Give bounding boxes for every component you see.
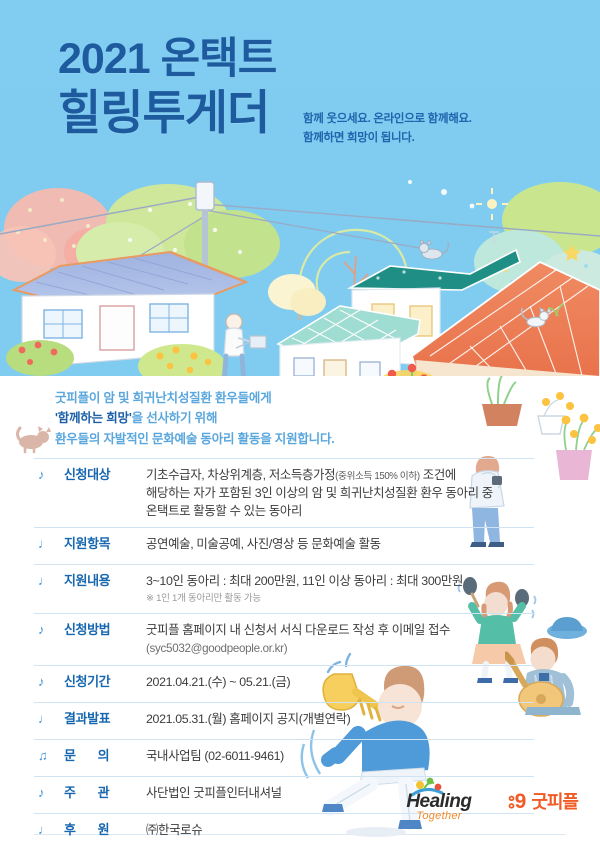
healing-together-logo: Healing Together [404,775,490,827]
info-value-support-items: 공연예술, 미술공예, 사진/영상 등 문화예술 활동 [142,535,534,553]
value-main: 기초수급자, 차상위계층, 저소득층가정 [146,468,335,482]
value-line-2: 해당하는 자가 포함된 3인 이상의 암 및 희귀난치성질환 환우 동아리 중 [146,484,534,502]
lead-highlight: '함께하는 희망' [55,411,132,425]
together-wordmark: Together [416,810,461,822]
music-note-icon: ♩ [34,710,64,728]
cat-illustration-left [14,424,54,454]
blue-hat [547,617,587,639]
value-memo: ※ 1인 1개 동아리만 활동 가능 [146,592,534,606]
value-small: (중위소득 150% 이하) [335,471,420,482]
flower-bush-left [6,340,74,376]
info-row-how-to-apply: ♪ 신청방법 굿피플 홈페이지 내 신청서 서식 다운로드 작성 후 이메일 접… [34,614,534,665]
info-value-how-to-apply: 굿피플 홈페이지 내 신청서 서식 다운로드 작성 후 이메일 접수 (syc5… [142,621,534,657]
info-label-support-details: 지원내용 [64,572,142,590]
music-note-icon: ♩ [34,535,64,553]
village-illustration [0,170,600,400]
lead-line-2-rest: 을 선사하기 위해 [132,411,218,425]
lead-line-2: '함께하는 희망'을 선사하기 위해 [55,408,335,428]
poster-subtitle: 함께 웃으세요. 온라인으로 함께해요. 함께하면 희망이 됩니다. [303,110,472,148]
info-row-support-details: ♩ 지원내용 3~10인 동아리 : 최대 200만원, 11인 이상 동아리 … [34,565,534,614]
music-note-icon: ♩ [34,821,64,839]
music-note-double-icon: ♪ [34,673,64,691]
goodpeople-mark-icon: ⦂9 [508,791,526,812]
info-value-application-target: 기초수급자, 차상위계층, 저소득층가정(중위소득 150% 이하) 조건에 해… [142,466,534,520]
value-tail: 조건에 [420,468,456,482]
lead-paragraph: 굿피플이 암 및 희귀난치성질환 환우들에게 '함께하는 희망'을 선사하기 위… [55,388,335,449]
lead-line-3: 환우들의 자발적인 문화예술 동아리 활동을 지원합니다. [55,429,335,449]
value-main: 굿피플 홈페이지 내 신청서 서식 다운로드 작성 후 이메일 접수 [146,623,450,637]
info-value-inquiry: 국내사업팀 (02-6011-9461) [142,747,534,765]
info-label-application-target: 신청대상 [64,466,142,484]
goodpeople-wordmark: 굿피플 [531,788,578,814]
music-notes-beamed-icon: ♫ [34,747,64,765]
music-note-double-icon: ♪ [34,466,64,484]
subtitle-line-1: 함께 웃으세요. 온라인으로 함께해요. [303,110,472,129]
lead-line-1: 굿피플이 암 및 희귀난치성질환 환우들에게 [55,388,335,408]
info-value-support-details: 3~10인 동아리 : 최대 200만원, 11인 이상 동아리 : 최대 30… [142,572,534,606]
goodpeople-logo: ⦂9 굿피플 [508,788,578,814]
info-label-how-to-apply: 신청방법 [64,621,142,639]
logo-row: Healing Together ⦂9 굿피플 [404,775,578,827]
music-note-double-icon: ♪ [34,784,64,802]
music-note-double-icon: ♪ [34,621,64,639]
info-row-result-announcement: ♩ 결과발표 2021.05.31.(월) 홈페이지 공지(개별연락) [34,703,534,740]
info-row-application-period: ♪ 신청기간 2021.04.21.(수) ~ 05.21.(금) [34,666,534,703]
music-note-icon: ♩ [34,572,64,590]
info-label-support-items: 지원항목 [64,535,142,553]
info-row-inquiry: ♫ 문 의 국내사업팀 (02-6011-9461) [34,740,534,777]
info-label-organizer: 주 관 [64,784,142,802]
info-value-application-period: 2021.04.21.(수) ~ 05.21.(금) [142,673,534,691]
value-line-3: 온택트로 활동할 수 있는 동아리 [146,502,534,520]
info-label-sponsor: 후 원 [64,821,142,839]
info-label-result-announcement: 결과발표 [64,710,142,728]
subtitle-line-2: 함께하면 희망이 됩니다. [303,129,472,148]
info-label-inquiry: 문 의 [64,747,142,765]
info-row-support-items: ♩ 지원항목 공연예술, 미술공예, 사진/영상 등 문화예술 활동 [34,528,534,565]
hanging-pot [538,392,574,434]
pot-grass [482,376,522,426]
title-line-2: 힐링투게더 [58,89,276,136]
info-row-application-target: ♪ 신청대상 기초수급자, 차상위계층, 저소득층가정(중위소득 150% 이하… [34,458,534,528]
application-email[interactable]: (syc5032@goodpeople.or.kr) [146,641,534,658]
title-line-1: 2021 온택트 [58,38,276,81]
poster-root: 2021 온택트 힐링투게더 함께 웃으세요. 온라인으로 함께해요. 함께하면… [0,0,600,849]
poster-title: 2021 온택트 힐링투게더 [58,38,276,136]
info-label-application-period: 신청기간 [64,673,142,691]
value-main: 3~10인 동아리 : 최대 200만원, 11인 이상 동아리 : 최대 30… [146,574,463,588]
info-value-result-announcement: 2021.05.31.(월) 홈페이지 공지(개별연락) [142,710,534,728]
